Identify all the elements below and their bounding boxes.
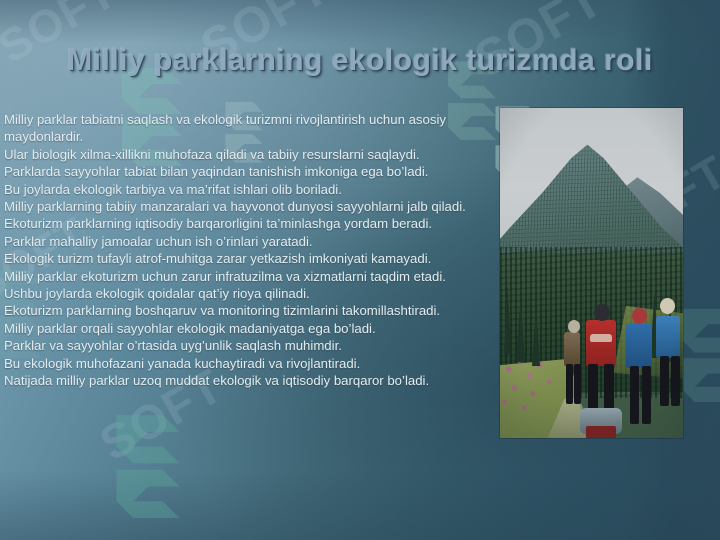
bottom-shade-overlay [0,470,720,540]
body-line: Milliy parklar ekoturizm uchun zarur inf… [4,268,490,285]
top-shade-overlay [0,0,720,44]
body-line: Bu joylarda ekologik tarbiya va ma’rifat… [4,181,490,198]
body-line: Parklar mahalliy jamoalar uchun ish o’ri… [4,233,490,250]
body-line: Milliy parklar tabiatni saqlash va ekolo… [4,111,490,146]
body-line: Milliy parklarning tabiiy manzaralari va… [4,198,490,215]
page-title: Milliy parklarning ekologik turizmda rol… [0,44,720,78]
body-line: Parklarda sayyohlar tabiat bilan yaqinda… [4,163,490,180]
body-line: Ushbu joylarda ekologik qoidalar qat’iy … [4,285,490,302]
slide-canvas: SOFT SOFT SOFT SOFT SOFT SOFT [0,0,720,540]
body-line: Ular biologik xilma-xillikni muhofaza qi… [4,146,490,163]
mountain-forest-hikers-photo [500,108,683,438]
body-text-block: Milliy parklar tabiatni saqlash va ekolo… [4,111,490,390]
body-line: Ekologik turizm tufayli atrof-muhitga za… [4,250,490,267]
body-line: Natijada milliy parklar uzoq muddat ekol… [4,372,490,389]
body-line: Parklar va sayyohlar o’rtasida uyg’unlik… [4,337,490,354]
body-line: Ekoturizm parklarning boshqaruv va monit… [4,302,490,319]
photo-vignette [500,108,683,438]
body-line: Ekoturizm parklarning iqtisodiy barqaror… [4,215,490,232]
body-line: Bu ekologik muhofazani yanada kuchaytira… [4,355,490,372]
body-line: Milliy parklar orqali sayyohlar ekologik… [4,320,490,337]
